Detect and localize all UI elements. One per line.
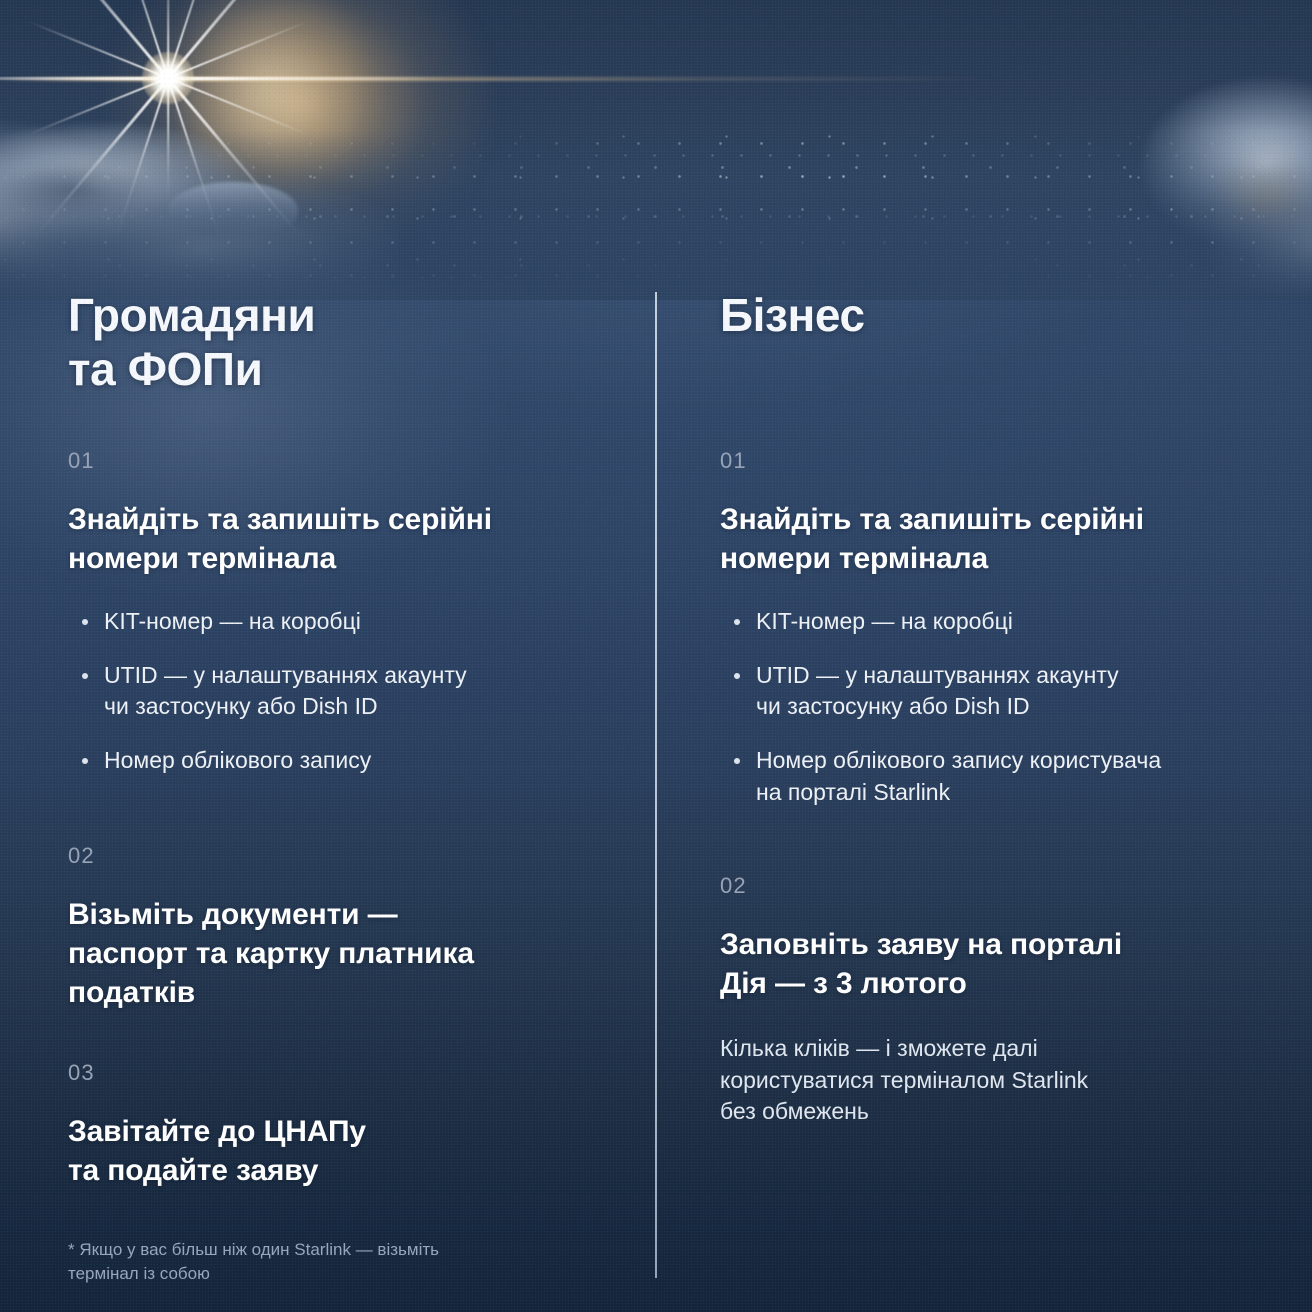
step-block-citizens-03: 03 Завітайте до ЦНАПу та подайте заяву bbox=[68, 1062, 628, 1190]
step-heading: Заповніть заяву на порталі Дія — з 3 лют… bbox=[720, 925, 1280, 1003]
step-number: 01 bbox=[720, 450, 1280, 472]
step-block-citizens-02: 02 Візьміть документи — паспорт та картк… bbox=[68, 845, 628, 1012]
step-heading: Завітайте до ЦНАПу та подайте заяву bbox=[68, 1112, 628, 1190]
step-heading: Знайдіть та запишіть серійні номери терм… bbox=[720, 500, 1280, 578]
step-bullet-list: KIT-номер — на коробці UTID — у налаштув… bbox=[68, 606, 628, 777]
step-note: Кілька кліків — і зможете далі користува… bbox=[720, 1033, 1280, 1128]
step-number: 02 bbox=[68, 845, 628, 867]
step-number: 03 bbox=[68, 1062, 628, 1084]
list-item: KIT-номер — на коробці bbox=[720, 606, 1280, 638]
list-item: KIT-номер — на коробці bbox=[68, 606, 628, 638]
column-divider bbox=[655, 292, 657, 1278]
list-item: Номер облікового запису користувача на п… bbox=[720, 745, 1280, 808]
step-number: 02 bbox=[720, 875, 1280, 897]
list-item: UTID — у налаштуваннях акаунту чи застос… bbox=[720, 660, 1280, 723]
step-heading: Візьміть документи — паспорт та картку п… bbox=[68, 895, 628, 1012]
citizens-footnote: * Якщо у вас більш ніж один Starlink — в… bbox=[68, 1238, 628, 1286]
step-heading: Знайдіть та запишіть серійні номери терм… bbox=[68, 500, 628, 578]
content-area: Громадяни та ФОПи 01 Знайдіть та запишіт… bbox=[0, 0, 1312, 1312]
list-item: UTID — у налаштуваннях акаунту чи застос… bbox=[68, 660, 628, 723]
column-business-title: Бізнес bbox=[720, 288, 865, 342]
step-block-business-02: 02 Заповніть заяву на порталі Дія — з 3 … bbox=[720, 875, 1280, 1128]
step-bullet-list: KIT-номер — на коробці UTID — у налаштув… bbox=[720, 606, 1280, 809]
column-citizens-title: Громадяни та ФОПи bbox=[68, 288, 315, 397]
step-block-citizens-01: 01 Знайдіть та запишіть серійні номери т… bbox=[68, 450, 628, 777]
step-block-business-01: 01 Знайдіть та запишіть серійні номери т… bbox=[720, 450, 1280, 809]
step-number: 01 bbox=[68, 450, 628, 472]
poster-root: Громадяни та ФОПи 01 Знайдіть та запишіт… bbox=[0, 0, 1312, 1312]
list-item: Номер облікового запису bbox=[68, 745, 628, 777]
